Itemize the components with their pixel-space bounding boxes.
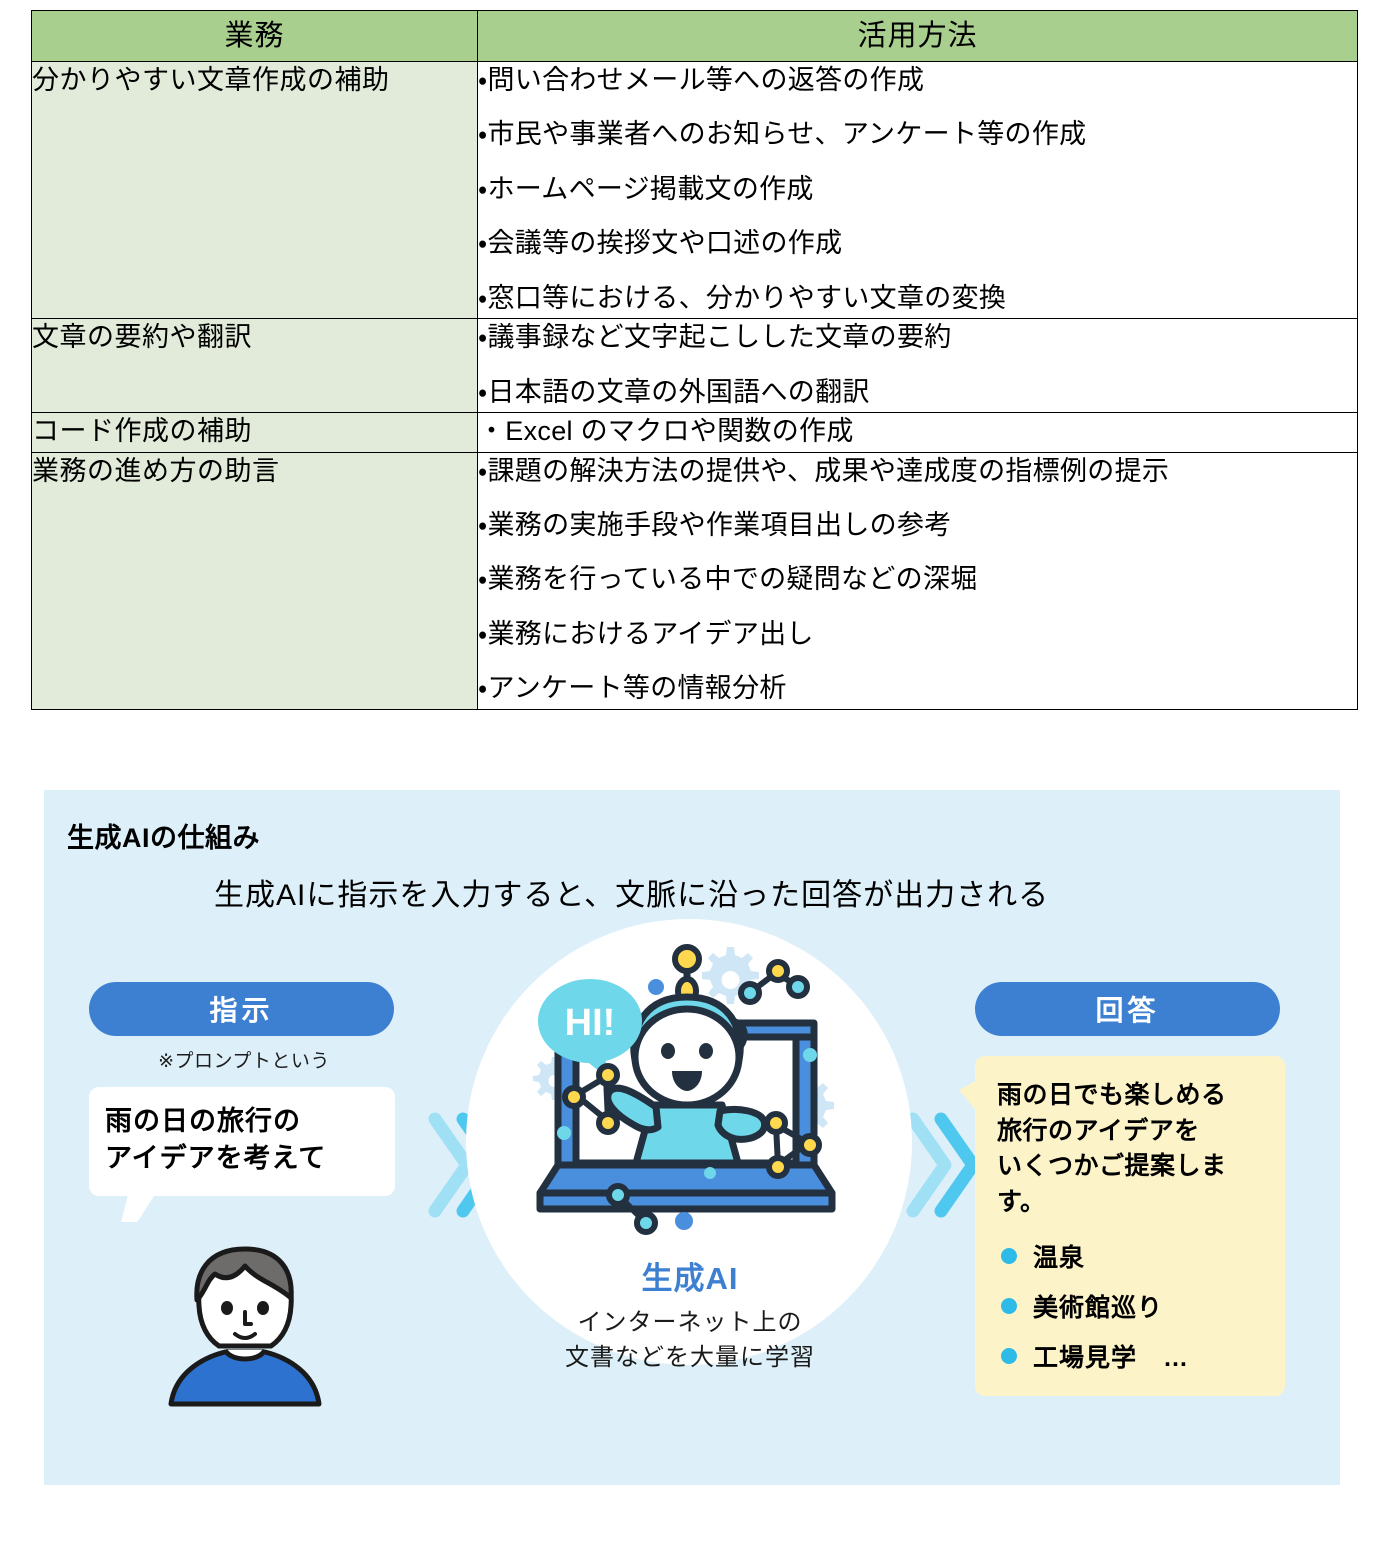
list-item: ・市民や事業者へのお知らせ、アンケート等の作成 <box>478 116 1357 152</box>
list-item-label: 美術館巡り <box>1033 1288 1163 1324</box>
bullet-dot-icon <box>1001 1348 1017 1364</box>
list-item: 温泉 <box>1001 1238 1271 1274</box>
task-label: 業務の進め方の助言 <box>32 452 478 709</box>
usage-table-container: 業務 活用方法 分かりやすい文章作成の補助 ・問い合わせメール等への返答の作成 … <box>31 10 1357 710</box>
task-label: 分かりやすい文章作成の補助 <box>32 62 478 319</box>
list-item: ・Excel のマクロや関数の作成 <box>478 413 1357 449</box>
bullet-dot-icon <box>1001 1298 1017 1314</box>
table-row: 分かりやすい文章作成の補助 ・問い合わせメール等への返答の作成 ・市民や事業者へ… <box>32 62 1358 319</box>
list-item-label: 工場見学 … <box>1033 1338 1189 1374</box>
list-item: 工場見学 … <box>1001 1338 1271 1374</box>
list-item: ・窓口等における、分かりやすい文章の変換 <box>478 280 1357 316</box>
center-caption: 生成AI インターネット上の 文書などを大量に学習 <box>450 1253 930 1376</box>
usage-list: ・Excel のマクロや関数の作成 <box>478 413 1357 449</box>
list-item-label: 温泉 <box>1033 1238 1085 1274</box>
list-item: ・業務を行っている中での疑問などの深堀 <box>478 561 1357 597</box>
answer-line-1: 雨の日でも楽しめる <box>997 1078 1271 1114</box>
generative-ai-illustration: HI! 生成AI インターネット上の 文書など <box>450 905 930 1405</box>
person-illustration <box>145 1232 345 1407</box>
list-item: ・ホームページ掲載文の作成 <box>478 171 1357 207</box>
bubble-line-2: アイデアを考えて <box>105 1140 381 1177</box>
list-item: 美術館巡り <box>1001 1288 1271 1324</box>
list-item: ・議事録など文字起こしした文章の要約 <box>478 319 1357 355</box>
task-label: 文章の要約や翻訳 <box>32 319 478 413</box>
center-caption-line-2: 文書などを大量に学習 <box>450 1341 930 1376</box>
answer-item-list: 温泉 美術館巡り 工場見学 … <box>1001 1238 1271 1374</box>
column-header-task: 業務 <box>32 11 478 62</box>
answer-pill: 回答 <box>975 982 1280 1036</box>
usage-list: ・課題の解決方法の提供や、成果や達成度の指標例の提示 ・業務の実施手段や作業項目… <box>478 453 1357 707</box>
answer-line-2: 旅行のアイデアを <box>997 1114 1271 1150</box>
bullet-dot-icon <box>1001 1248 1017 1264</box>
list-item: ・業務におけるアイデア出し <box>478 616 1357 652</box>
usage-cell: ・議事録など文字起こしした文章の要約 ・日本語の文章の外国語への翻訳 <box>478 319 1358 413</box>
list-item: ・業務の実施手段や作業項目出しの参考 <box>478 507 1357 543</box>
column-header-usage: 活用方法 <box>478 11 1358 62</box>
bubble-line-1: 雨の日の旅行の <box>105 1103 381 1140</box>
prompt-note: ※プロンプトという <box>89 1046 399 1073</box>
list-item: ・問い合わせメール等への返答の作成 <box>478 62 1357 98</box>
list-item: ・会議等の挨拶文や口述の作成 <box>478 225 1357 261</box>
center-title: 生成AI <box>450 1253 930 1298</box>
instruction-column: 指示 ※プロンプトという 雨の日の旅行の アイデアを考えて <box>89 982 399 1196</box>
table-row: 文章の要約や翻訳 ・議事録など文字起こしした文章の要約 ・日本語の文章の外国語へ… <box>32 319 1358 413</box>
list-item: ・課題の解決方法の提供や、成果や達成度の指標例の提示 <box>478 453 1357 489</box>
table-header-row: 業務 活用方法 <box>32 11 1358 62</box>
center-caption-line-1: インターネット上の <box>450 1306 930 1341</box>
instruction-pill: 指示 <box>89 982 394 1036</box>
list-item: ・日本語の文章の外国語への翻訳 <box>478 374 1357 410</box>
usage-table: 業務 活用方法 分かりやすい文章作成の補助 ・問い合わせメール等への返答の作成 … <box>31 10 1358 710</box>
table-row: 業務の進め方の助言 ・課題の解決方法の提供や、成果や達成度の指標例の提示 ・業務… <box>32 452 1358 709</box>
answer-column: 回答 雨の日でも楽しめる 旅行のアイデアを いくつかご提案します。 温泉 美術館… <box>975 982 1285 1396</box>
hi-text: HI! <box>565 1002 616 1044</box>
table-row: コード作成の補助 ・Excel のマクロや関数の作成 <box>32 413 1358 452</box>
diagram-title: 生成AIの仕組み <box>67 816 260 855</box>
user-speech-bubble: 雨の日の旅行の アイデアを考えて <box>89 1087 395 1196</box>
usage-cell: ・課題の解決方法の提供や、成果や達成度の指標例の提示 ・業務の実施手段や作業項目… <box>478 452 1358 709</box>
usage-cell: ・問い合わせメール等への返答の作成 ・市民や事業者へのお知らせ、アンケート等の作… <box>478 62 1358 319</box>
answer-card: 雨の日でも楽しめる 旅行のアイデアを いくつかご提案します。 温泉 美術館巡り … <box>975 1056 1285 1396</box>
usage-list: ・議事録など文字起こしした文章の要約 ・日本語の文章の外国語への翻訳 <box>478 319 1357 410</box>
list-item: ・アンケート等の情報分析 <box>478 670 1357 706</box>
task-label: コード作成の補助 <box>32 413 478 452</box>
answer-line-3: いくつかご提案します。 <box>997 1149 1271 1220</box>
usage-cell: ・Excel のマクロや関数の作成 <box>478 413 1358 452</box>
robot-laptop-icon: HI! <box>480 925 900 1265</box>
usage-list: ・問い合わせメール等への返答の作成 ・市民や事業者へのお知らせ、アンケート等の作… <box>478 62 1357 316</box>
